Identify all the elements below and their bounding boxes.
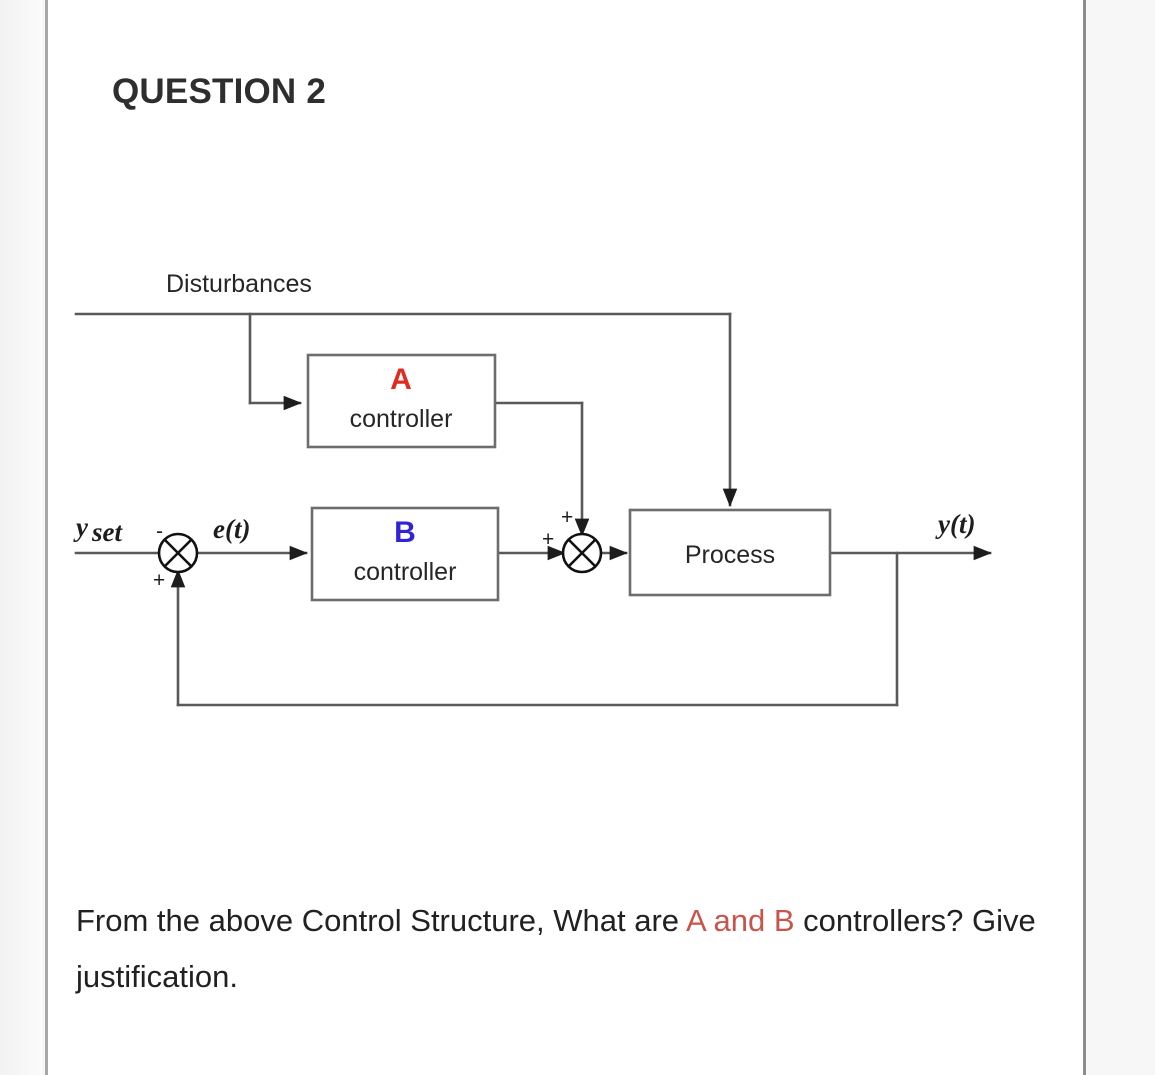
setpoint-label-subscript: set — [91, 517, 123, 547]
block-diagram-svg: A controller B controller Process — [48, 250, 1048, 750]
left-gutter — [0, 0, 42, 1075]
question-text-highlight: A and B — [686, 903, 795, 938]
summing-junction-2-sign-plus-left: + — [542, 528, 554, 551]
document-content: QUESTION 2 — [48, 0, 1086, 1075]
summing-junction-2[interactable]: + + — [542, 506, 601, 572]
vertical-scrollbar[interactable] — [1133, 0, 1149, 1075]
a-controller-sublabel: controller — [350, 405, 453, 433]
process-label: Process — [685, 541, 775, 569]
summing-junction-2-sign-plus-top: + — [561, 506, 573, 529]
b-controller-block[interactable]: B controller — [312, 508, 498, 600]
question-text-part1: From the above Control Structure, What a… — [76, 903, 686, 938]
a-controller-letter: A — [390, 363, 412, 396]
summing-junction-1[interactable]: - + — [153, 520, 197, 592]
control-structure-diagram: A controller B controller Process — [48, 250, 1048, 750]
question-text: From the above Control Structure, What a… — [76, 893, 1036, 1005]
b-controller-sublabel: controller — [354, 558, 457, 586]
error-label: e(t) — [213, 514, 250, 544]
b-controller-letter: B — [394, 516, 416, 549]
a-controller-block[interactable]: A controller — [308, 355, 495, 447]
summing-junction-1-sign-minus: - — [156, 520, 163, 543]
summing-junction-1-sign-plus: + — [153, 569, 165, 592]
disturbances-label: Disturbances — [166, 270, 312, 298]
page-background: QUESTION 2 — [0, 0, 1155, 1075]
setpoint-label: y set — [73, 512, 123, 547]
page-title: QUESTION 2 — [112, 72, 326, 112]
process-block[interactable]: Process — [630, 510, 830, 595]
output-label: y(t) — [935, 509, 975, 539]
setpoint-label-base: y — [73, 512, 89, 542]
